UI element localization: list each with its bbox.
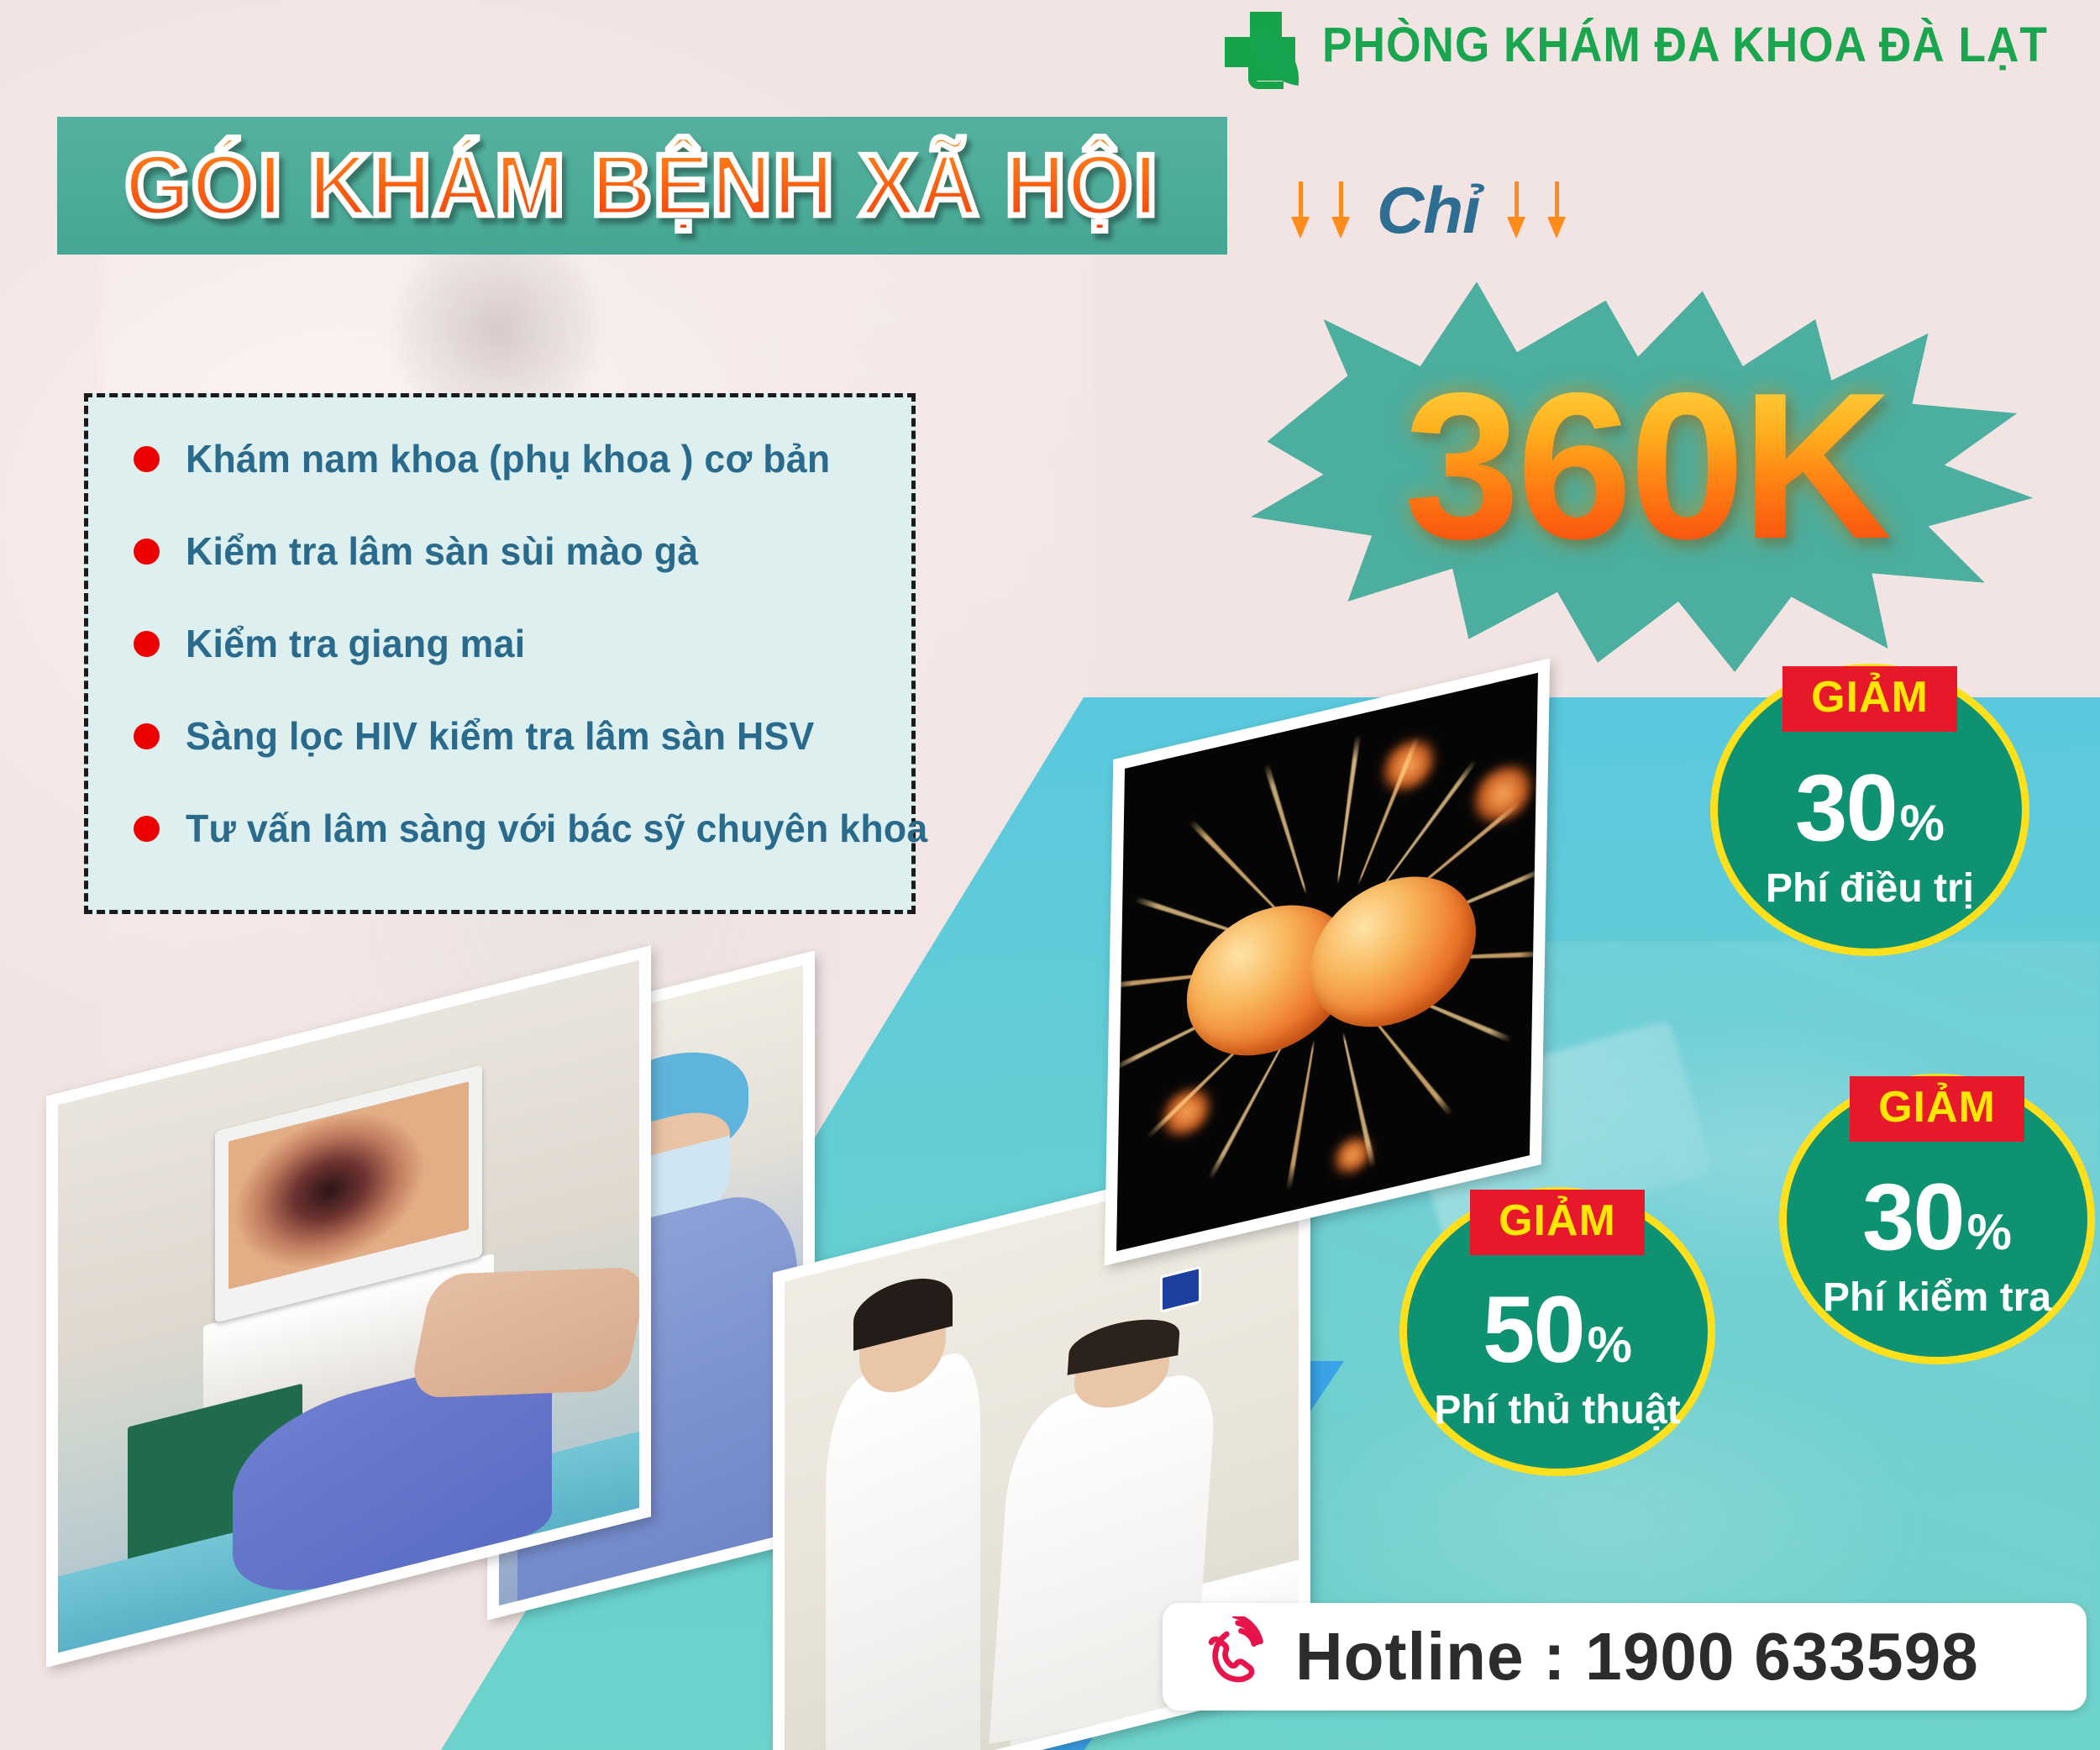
badge-ribbon-label: GIẢM — [1782, 666, 1957, 732]
badge-percent-value: 30 — [1795, 761, 1897, 855]
status-badge: GIẢM 50 % Phí thủ thuật — [1399, 1187, 1715, 1476]
arrow-down-icon — [1330, 181, 1352, 240]
arrow-down-icon — [1505, 181, 1527, 240]
arrow-down-icon — [1289, 181, 1311, 240]
page-title: GÓI KHÁM BỆNH XÃ HỘI — [125, 136, 1159, 236]
badge-caption: Phí thủ thuật — [1434, 1387, 1680, 1433]
price-amount: 360K — [1243, 361, 2050, 570]
brand-name: PHÒNG KHÁM ĐA KHOA ĐÀ LẠT — [1322, 17, 2048, 73]
list-item: Kiểm tra giang mai — [134, 621, 911, 666]
service-label: Khám nam khoa (phụ khoa ) cơ bản — [186, 436, 830, 481]
badge-percent-symbol: % — [1900, 798, 1945, 849]
list-item: Tư vấn lâm sàng với bác sỹ chuyên khoa — [134, 806, 911, 851]
badge-caption: Phí điều trị — [1766, 865, 1974, 912]
service-label: Kiểm tra giang mai — [186, 621, 525, 666]
bullet-dot-icon — [134, 723, 160, 749]
badge-percent: 50 % — [1483, 1283, 1632, 1377]
hotline-bar[interactable]: Hotline : 1900 633598 — [1163, 1603, 2087, 1711]
arrow-down-icon — [1546, 181, 1567, 240]
status-badge: GIẢM 30 % Phí điều trị — [1710, 664, 2029, 956]
badge-percent-value: 50 — [1483, 1283, 1584, 1377]
badge-percent-value: 30 — [1862, 1170, 1964, 1264]
service-label: Tư vấn lâm sàng với bác sỹ chuyên khoa — [186, 806, 928, 851]
price-callout: Chỉ 360K — [1243, 151, 2033, 723]
medical-cross-leaf-icon — [1220, 8, 1300, 81]
bullet-dot-icon — [134, 446, 160, 472]
brand-logo: PHÒNG KHÁM ĐA KHOA ĐÀ LẠT — [1220, 8, 2100, 81]
services-panel: Khám nam khoa (phụ khoa ) cơ bản Kiểm tr… — [84, 393, 916, 914]
badge-ribbon-label: GIẢM — [1850, 1076, 2024, 1142]
badge-percent: 30 % — [1795, 761, 1945, 855]
bullet-dot-icon — [134, 539, 160, 565]
bullet-dot-icon — [134, 631, 160, 657]
status-badge: GIẢM 30 % Phí kiểm tra — [1779, 1074, 2095, 1364]
badge-percent-symbol: % — [1967, 1207, 2012, 1258]
price-prefix-row: Chỉ — [1289, 172, 1567, 249]
list-item: Sàng lọc HIV kiểm tra lâm sàn HSV — [134, 713, 911, 759]
badge-percent: 30 % — [1862, 1170, 2012, 1264]
badge-ribbon-label: GIẢM — [1470, 1190, 1645, 1255]
badge-caption: Phí kiểm tra — [1823, 1274, 2051, 1321]
service-label: Kiểm tra lâm sàn sùi mào gà — [186, 528, 698, 574]
list-item: Kiểm tra lâm sàn sùi mào gà — [134, 528, 911, 574]
gonorrhea-bacteria-photo — [1105, 658, 1550, 1265]
list-item: Khám nam khoa (phụ khoa ) cơ bản — [134, 436, 911, 481]
poster-canvas: PHÒNG KHÁM ĐA KHOA ĐÀ LẠT GÓI KHÁM BỆNH … — [0, 0, 2100, 1750]
hotline-number: Hotline : 1900 633598 — [1295, 1618, 1979, 1695]
service-label: Sàng lọc HIV kiểm tra lâm sàn HSV — [186, 713, 815, 759]
badge-percent-symbol: % — [1588, 1320, 1632, 1370]
price-prefix: Chỉ — [1370, 172, 1487, 249]
bullet-dot-icon — [134, 816, 160, 842]
title-banner: GÓI KHÁM BỆNH XÃ HỘI — [57, 117, 1227, 255]
phone-call-icon — [1191, 1616, 1272, 1697]
